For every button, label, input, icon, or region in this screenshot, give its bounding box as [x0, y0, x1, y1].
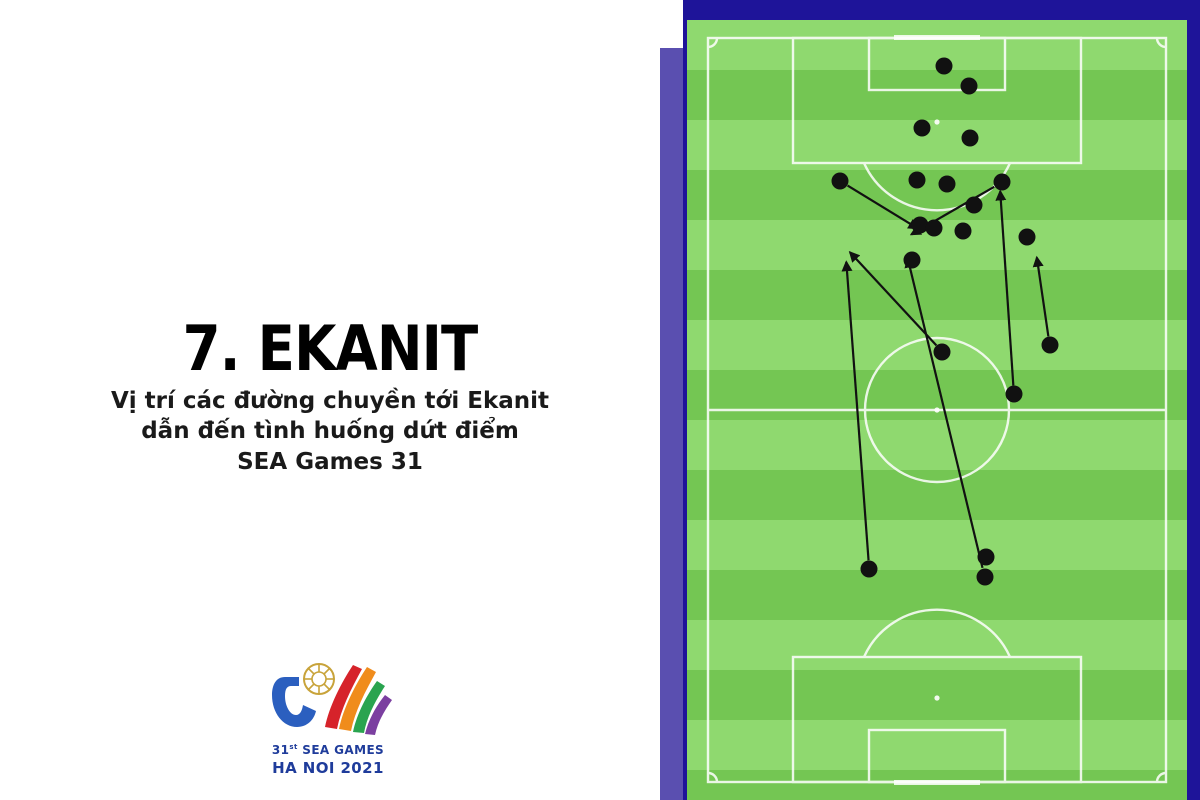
subtitle-line-3: SEA Games 31	[0, 447, 660, 477]
pass-marker	[861, 561, 878, 578]
sea-games-logo-mark	[263, 655, 393, 743]
pass-marker	[976, 568, 993, 585]
pass-arrow	[908, 258, 983, 568]
pass-arrow	[848, 186, 918, 229]
pass-marker	[904, 251, 921, 268]
pass-arrow	[846, 262, 868, 560]
logo-ribbons	[325, 665, 392, 735]
pass-marker	[961, 78, 978, 95]
subtitle-line-1: Vị trí các đường chuyền tới Ekanit	[0, 386, 660, 416]
pass-arrow	[1037, 257, 1049, 336]
pass-marker	[961, 130, 978, 147]
pass-marker	[954, 223, 971, 240]
pass-marker	[1041, 337, 1058, 354]
page-title: 7. EKANIT	[40, 318, 621, 380]
pass-marker	[938, 175, 955, 192]
pass-marker	[934, 343, 951, 360]
logo-lotus-petals	[304, 664, 334, 694]
pitch-map	[687, 20, 1187, 800]
pass-marker	[914, 120, 931, 137]
title-block: 7. EKANIT Vị trí các đường chuyền tới Ek…	[0, 318, 660, 477]
pass-marker	[926, 219, 943, 236]
infographic-root: 7. EKANIT Vị trí các đường chuyền tới Ek…	[0, 0, 1200, 800]
subtitle-block: Vị trí các đường chuyền tới Ekanit dẫn đ…	[0, 386, 660, 477]
logo-vase-shape	[272, 677, 316, 727]
pass-marker	[977, 549, 994, 566]
pass-marker	[1005, 386, 1022, 403]
pass-marker	[831, 172, 848, 189]
sea-games-logo: 31st SEA GAMES HA NOI 2021	[263, 655, 393, 790]
logo-line-1: 31st SEA GAMES	[263, 743, 393, 757]
left-text-panel: 7. EKANIT Vị trí các đường chuyền tới Ek…	[0, 0, 660, 800]
pass-marker	[965, 196, 982, 213]
pass-arrows-layer	[687, 20, 1187, 800]
pass-arrow	[850, 252, 936, 345]
subtitle-line-2: dẫn đến tình huống dứt điểm	[0, 416, 660, 446]
pass-marker	[1018, 229, 1035, 246]
pass-marker	[994, 174, 1011, 191]
pass-marker	[935, 58, 952, 75]
pass-arrow	[1000, 191, 1013, 385]
logo-line-2: HA NOI 2021	[263, 759, 393, 777]
pass-marker	[908, 172, 925, 189]
